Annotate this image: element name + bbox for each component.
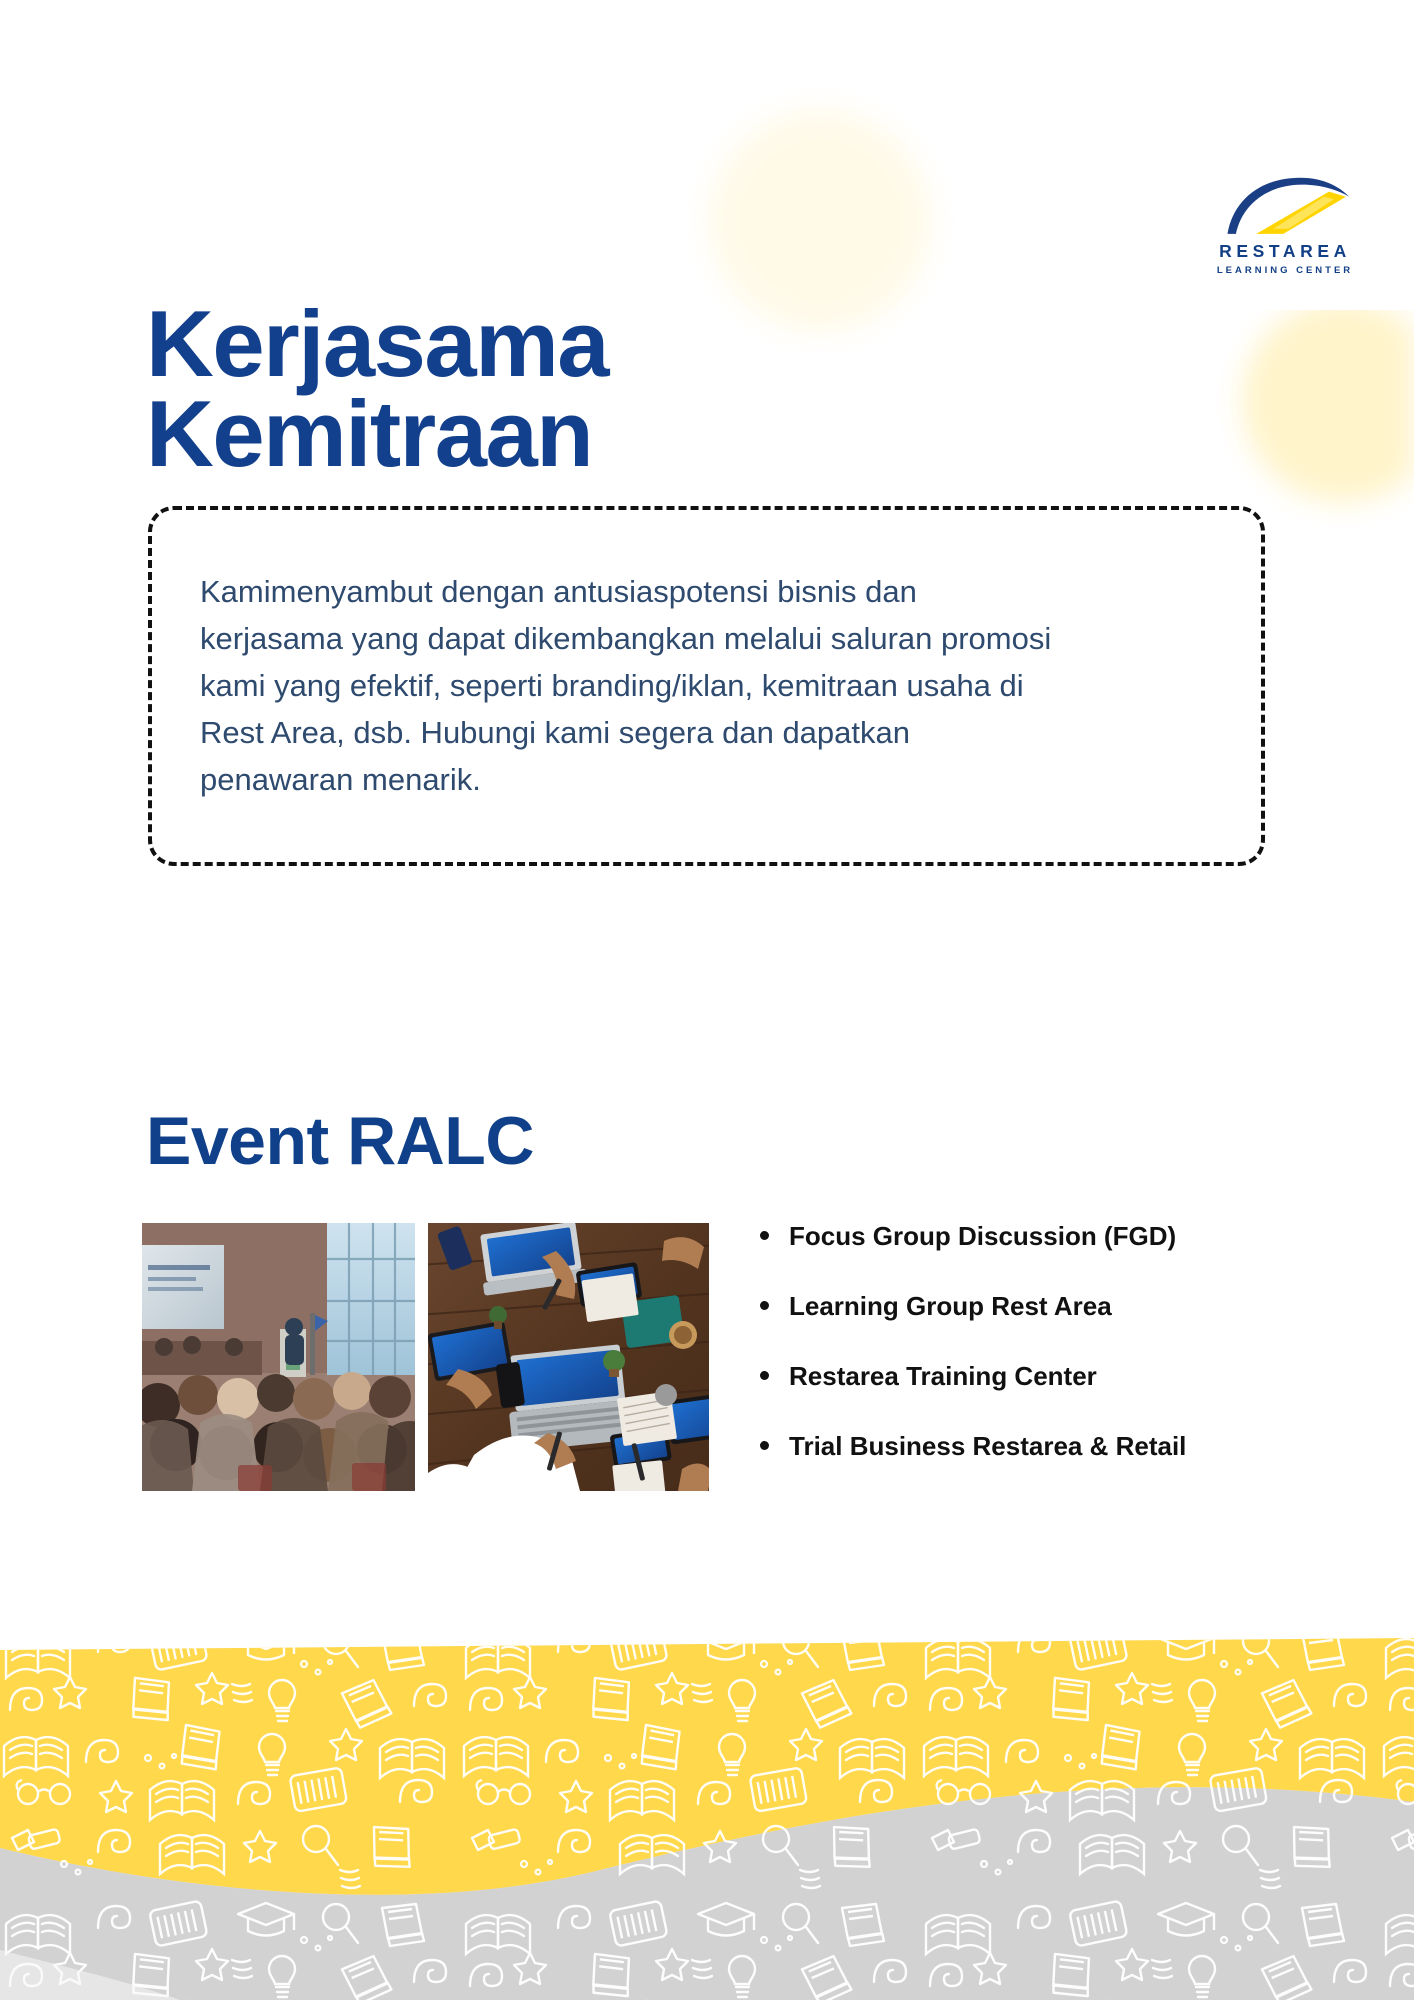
intro-line-1: Kamimenyambut dengan antusiaspotensi bis…: [200, 568, 1240, 615]
list-item: Trial Business Restarea & Retail: [760, 1432, 1320, 1461]
intro-line-5: penawaran menarik.: [200, 756, 1240, 803]
page-title: Kerjasama Kemitraan: [146, 299, 926, 479]
intro-line-2: kerjasama yang dapat dikembangkan melalu…: [200, 615, 1240, 662]
intro-paragraph: Kamimenyambut dengan antusiaspotensi bis…: [200, 568, 1240, 804]
list-item-label: Trial Business Restarea & Retail: [789, 1432, 1186, 1461]
intro-line-3: kami yang efektif, seperti branding/ikla…: [200, 662, 1240, 709]
restarea-logo-icon: [1217, 173, 1353, 239]
poster-root: RESTAREA LEARNING CENTER Kerjasama Kemit…: [0, 0, 1414, 2000]
intro-line-4: Rest Area, dsb. Hubungi kami segera dan …: [200, 709, 1240, 756]
bullet-dot-icon: [760, 1441, 769, 1450]
logo-badge: RESTAREA LEARNING CENTER: [1162, 138, 1414, 310]
list-item-label: Learning Group Rest Area: [789, 1292, 1112, 1321]
photo-workshop: [428, 1223, 709, 1491]
bullet-dot-icon: [760, 1301, 769, 1310]
bullet-dot-icon: [760, 1371, 769, 1380]
list-item: Focus Group Discussion (FGD): [760, 1222, 1320, 1251]
list-item: Restarea Training Center: [760, 1362, 1320, 1391]
logo-wordmark: RESTAREA: [1219, 243, 1351, 261]
photo-seminar-image: [142, 1223, 415, 1491]
footer-pattern: [0, 1620, 1414, 2000]
logo-tagline: LEARNING CENTER: [1217, 266, 1353, 276]
footer-doodle-band: [0, 1620, 1414, 2000]
event-list: Focus Group Discussion (FGD) Learning Gr…: [760, 1222, 1320, 1502]
list-item-label: Focus Group Discussion (FGD): [789, 1222, 1176, 1251]
list-item: Learning Group Rest Area: [760, 1292, 1320, 1321]
dashed-divider: [146, 916, 1268, 923]
event-section-title: Event RALC: [146, 1107, 534, 1175]
photo-seminar: [142, 1223, 415, 1491]
bullet-dot-icon: [760, 1231, 769, 1240]
list-item-label: Restarea Training Center: [789, 1362, 1097, 1391]
photo-workshop-image: [428, 1223, 709, 1491]
page-title-line-2: Kemitraan: [146, 389, 926, 479]
